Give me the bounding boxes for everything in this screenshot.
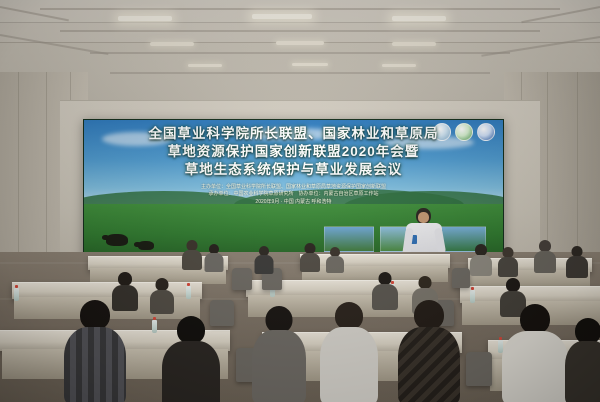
chair — [466, 352, 492, 386]
conference-hall-photo: 全国草业科学院所长联盟、国家林业和草原局 草地资源保护国家创新联盟2020年会暨… — [0, 0, 600, 402]
chair — [452, 268, 470, 288]
screen-subtitle-line-3: 2020年9月 · 中国 内蒙古 呼和浩特 — [112, 199, 475, 206]
ceiling-light — [118, 16, 172, 21]
ceiling-light — [292, 63, 328, 66]
screen-title-line-3: 草地生态系统保护与草业发展会议 — [84, 161, 503, 179]
water-bottle — [152, 320, 157, 333]
water-bottle — [470, 290, 475, 303]
ceiling-light — [188, 64, 222, 67]
speaker-face — [418, 212, 429, 223]
water-bottle — [14, 288, 19, 301]
ceiling-light — [382, 64, 416, 67]
screen-subtitle-line-2: 承办单位：中国农业科学院草原研究所 协办单位：内蒙古自治区草原工作站 — [112, 191, 475, 198]
ceiling-light — [150, 42, 194, 46]
screen-grazing-animal-icon — [138, 241, 154, 250]
ceiling-light — [276, 41, 324, 45]
ceiling-light — [252, 14, 312, 19]
screen-grazing-animal-icon — [106, 234, 128, 246]
screen-title-line-2: 草地资源保护国家创新联盟2020年会暨 — [84, 143, 503, 161]
chair — [232, 268, 252, 290]
screen-title-line-1: 全国草业科学院所长联盟、国家林业和草原局 — [84, 125, 503, 143]
screen-title: 全国草业科学院所长联盟、国家林业和草原局 草地资源保护国家创新联盟2020年会暨… — [84, 125, 503, 178]
screen-subtitle: 主办单位：全国草业科学院所长联盟、国家林业和草原局草地资源保护国家创新联盟 承办… — [112, 184, 475, 206]
ceiling-light — [392, 16, 446, 21]
water-bottle — [186, 286, 191, 299]
ceiling-light — [392, 42, 436, 46]
